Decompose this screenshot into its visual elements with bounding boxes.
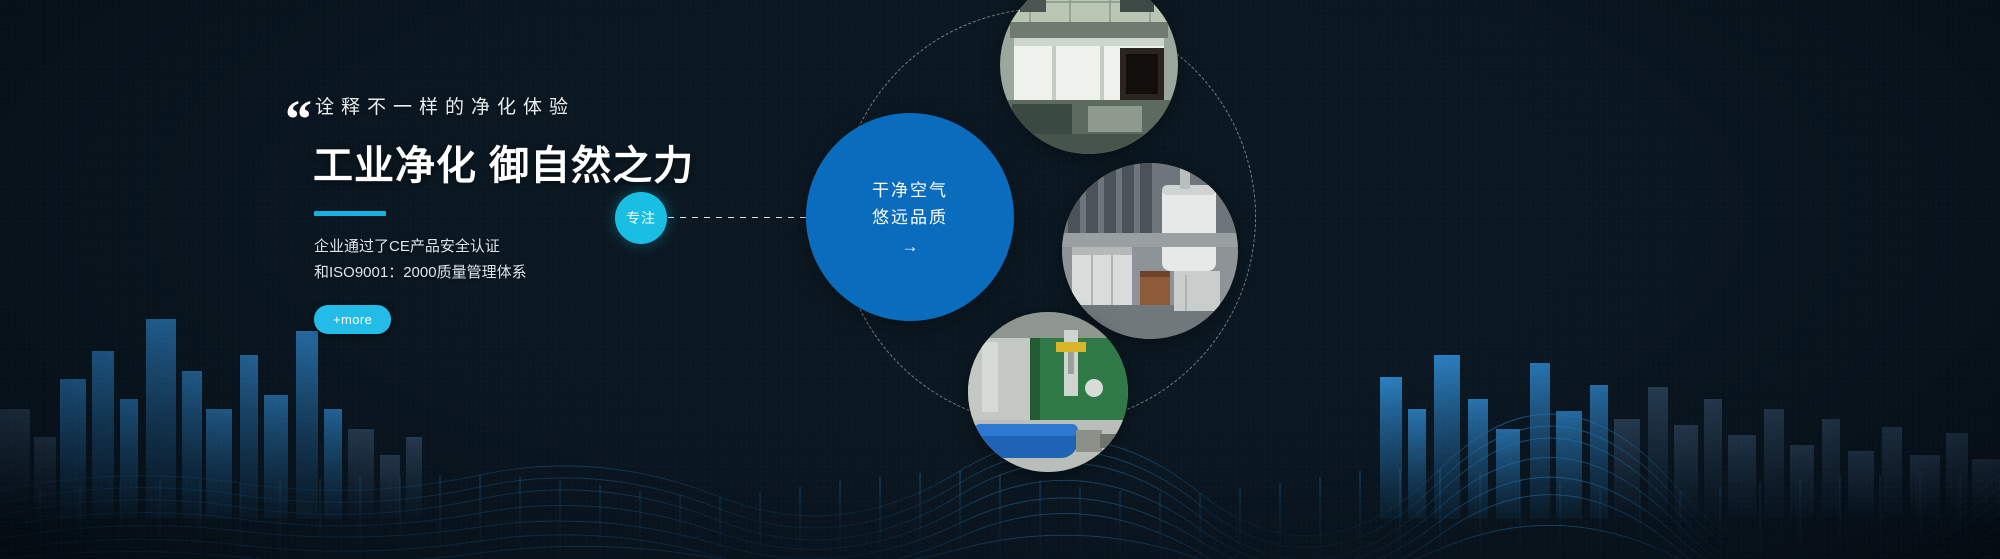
circle-line-1: 干净空气 (872, 177, 948, 204)
circle-line-2: 悠远品质 (872, 204, 948, 231)
hero-subtitle: 诠释不一样的净化体验 (315, 92, 845, 119)
quote-icon: “ (285, 92, 310, 146)
arrow-right-icon: → (902, 237, 919, 257)
hero-desc-line-2: 和ISO9001：2000质量管理体系 (314, 260, 845, 286)
hero-text-block: “ 诠释不一样的净化体验 工业净化 御自然之力 企业通过了CE产品安全认证 和I… (285, 92, 845, 334)
hero-banner: “ 诠释不一样的净化体验 工业净化 御自然之力 企业通过了CE产品安全认证 和I… (0, 0, 2000, 559)
accent-divider (314, 211, 386, 216)
pipe-valve-equipment-photo[interactable] (968, 312, 1128, 472)
city-right (1380, 355, 1608, 519)
city-right-dark (1614, 387, 2000, 519)
focus-chip[interactable]: 专注 (615, 192, 667, 244)
more-button[interactable]: +more (314, 305, 391, 334)
industrial-tanks-photo[interactable] (1062, 163, 1238, 339)
main-circle-badge[interactable]: 干净空气 悠远品质 → (806, 113, 1014, 321)
dashed-connector (668, 217, 808, 218)
hero-headline: 工业净化 御自然之力 (313, 133, 845, 191)
hero-desc-line-1: 企业通过了CE产品安全认证 (314, 234, 845, 260)
